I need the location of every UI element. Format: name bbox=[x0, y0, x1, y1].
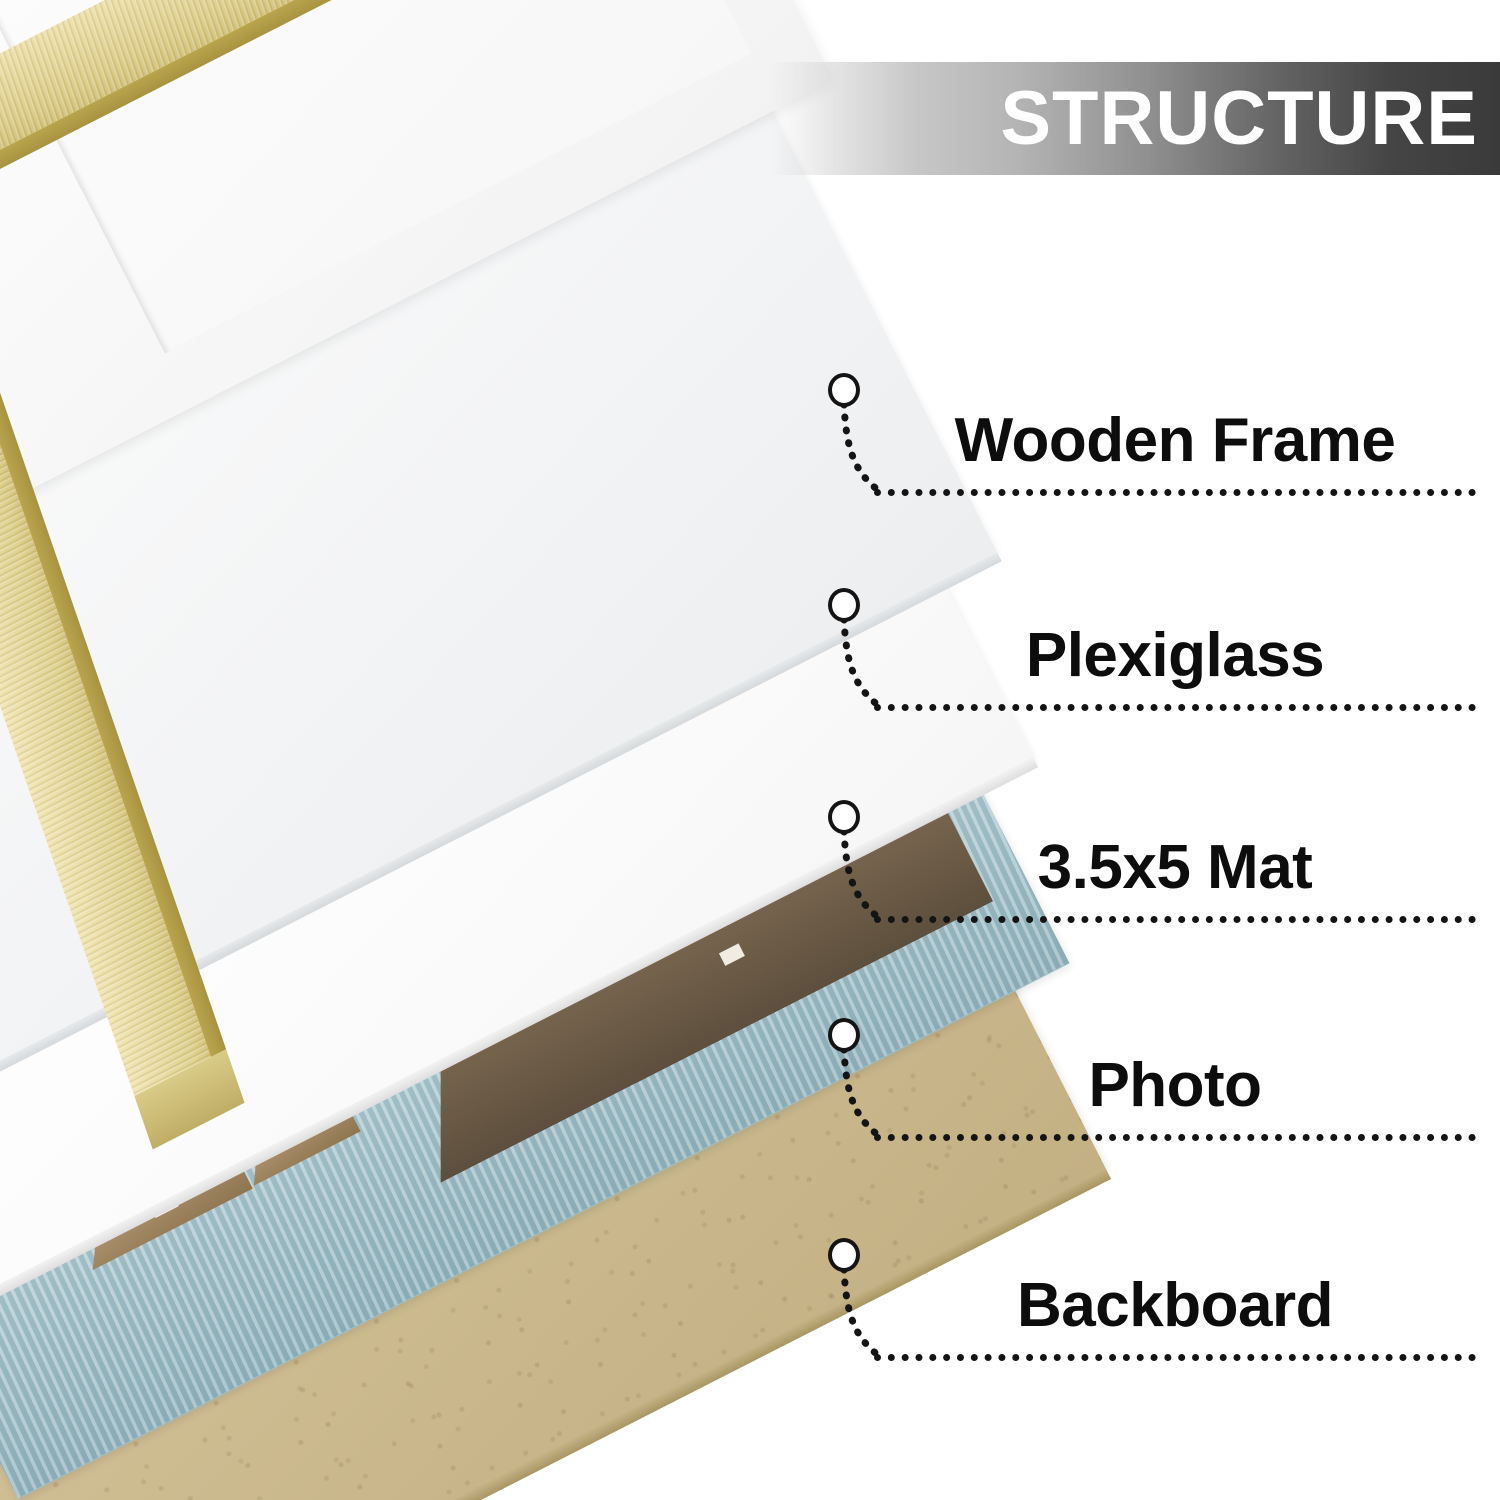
label-photo: Photo bbox=[874, 1050, 1476, 1121]
marker-dot-photo[interactable] bbox=[828, 1018, 860, 1052]
structure-banner: STRUCTURE bbox=[770, 62, 1500, 175]
marker-dot-plexiglass[interactable] bbox=[828, 588, 860, 622]
label-plexiglass: Plexiglass bbox=[874, 620, 1476, 691]
underline-wooden-frame bbox=[874, 489, 1476, 496]
marker-dot-backboard[interactable] bbox=[828, 1238, 860, 1272]
label-backboard: Backboard bbox=[874, 1270, 1476, 1341]
banner-title: STRUCTURE bbox=[1000, 81, 1478, 157]
label-wooden-frame: Wooden Frame bbox=[874, 405, 1476, 476]
underline-plexiglass bbox=[874, 704, 1476, 711]
underline-backboard bbox=[874, 1354, 1476, 1361]
underline-photo bbox=[874, 1134, 1476, 1141]
frame-bar-top bbox=[0, 0, 791, 233]
structure-diagram: Wooden Frame Plexiglass 3.5x5 Mat Photo bbox=[0, 0, 1500, 1500]
underline-mat bbox=[874, 916, 1476, 923]
marker-dot-wooden-frame[interactable] bbox=[828, 373, 860, 407]
marker-dot-mat[interactable] bbox=[828, 800, 860, 834]
label-mat: 3.5x5 Mat bbox=[874, 832, 1476, 903]
